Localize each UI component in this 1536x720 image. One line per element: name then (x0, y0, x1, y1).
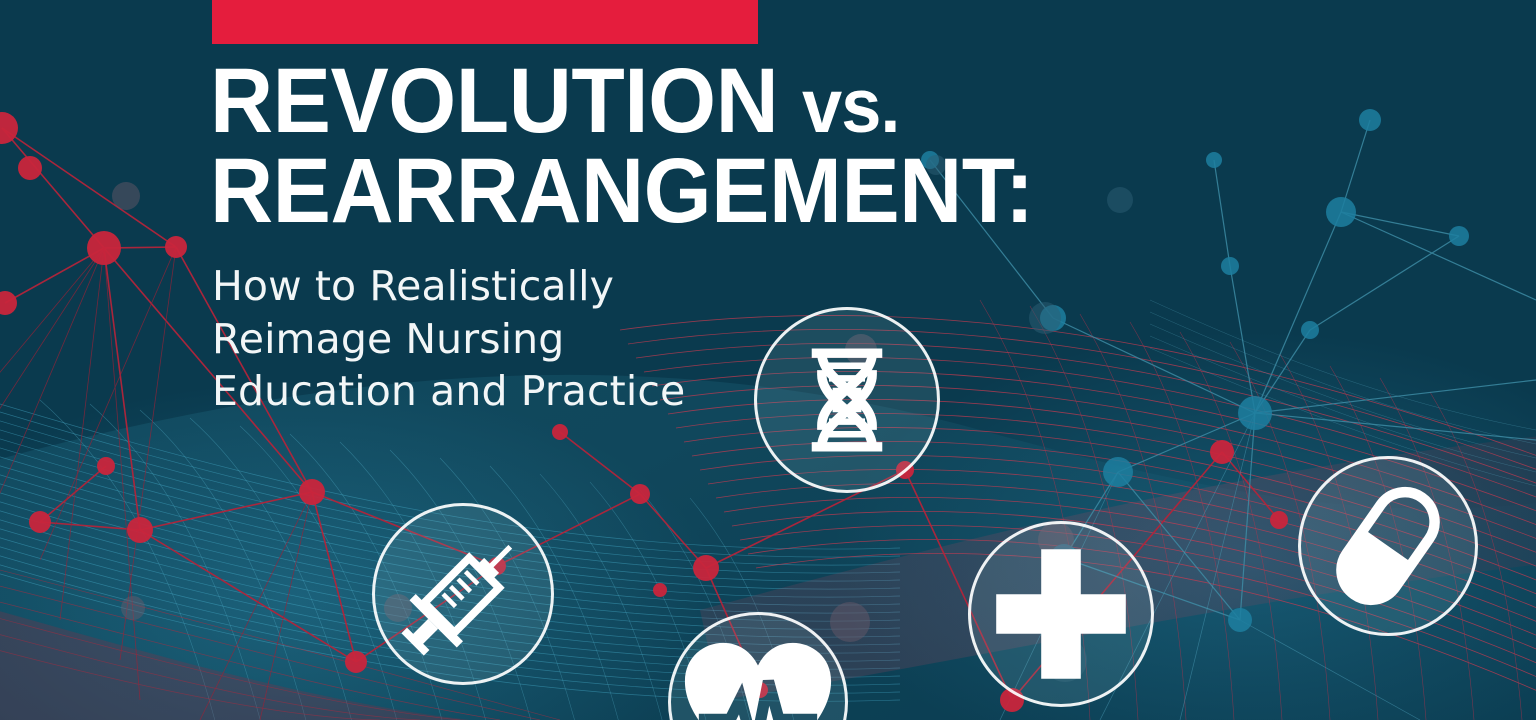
subtitle-line-3: Education and Practice (212, 365, 1210, 417)
pill-icon-badge (1298, 456, 1478, 636)
title-text-revolution: REVOLUTION (210, 50, 778, 152)
subtitle-line-2: Reimage Nursing (212, 313, 1210, 365)
medical-cross-icon-badge (968, 521, 1154, 707)
page-subtitle: How to Realistically Reimage Nursing Edu… (212, 260, 1210, 417)
syringe-icon-badge (372, 503, 554, 685)
title-text-vs: vs. (802, 64, 900, 149)
heart-pulse-icon-badge (668, 612, 848, 720)
dna-icon (757, 310, 937, 490)
red-accent-bar (212, 0, 758, 44)
dna-icon-badge (754, 307, 940, 493)
heart-pulse-icon (671, 615, 845, 720)
medical-cross-icon (971, 524, 1151, 704)
syringe-icon (375, 506, 551, 682)
page-title-line-2: REARRANGEMENT: (210, 146, 1160, 236)
page-title-line-1: REVOLUTION vs. (210, 56, 1160, 146)
pill-icon (1301, 459, 1475, 633)
subtitle-line-1: How to Realistically (212, 260, 1210, 312)
poster-canvas: REVOLUTION vs. REARRANGEMENT: How to Rea… (0, 0, 1536, 720)
title-block: REVOLUTION vs. REARRANGEMENT: How to Rea… (210, 56, 1210, 418)
